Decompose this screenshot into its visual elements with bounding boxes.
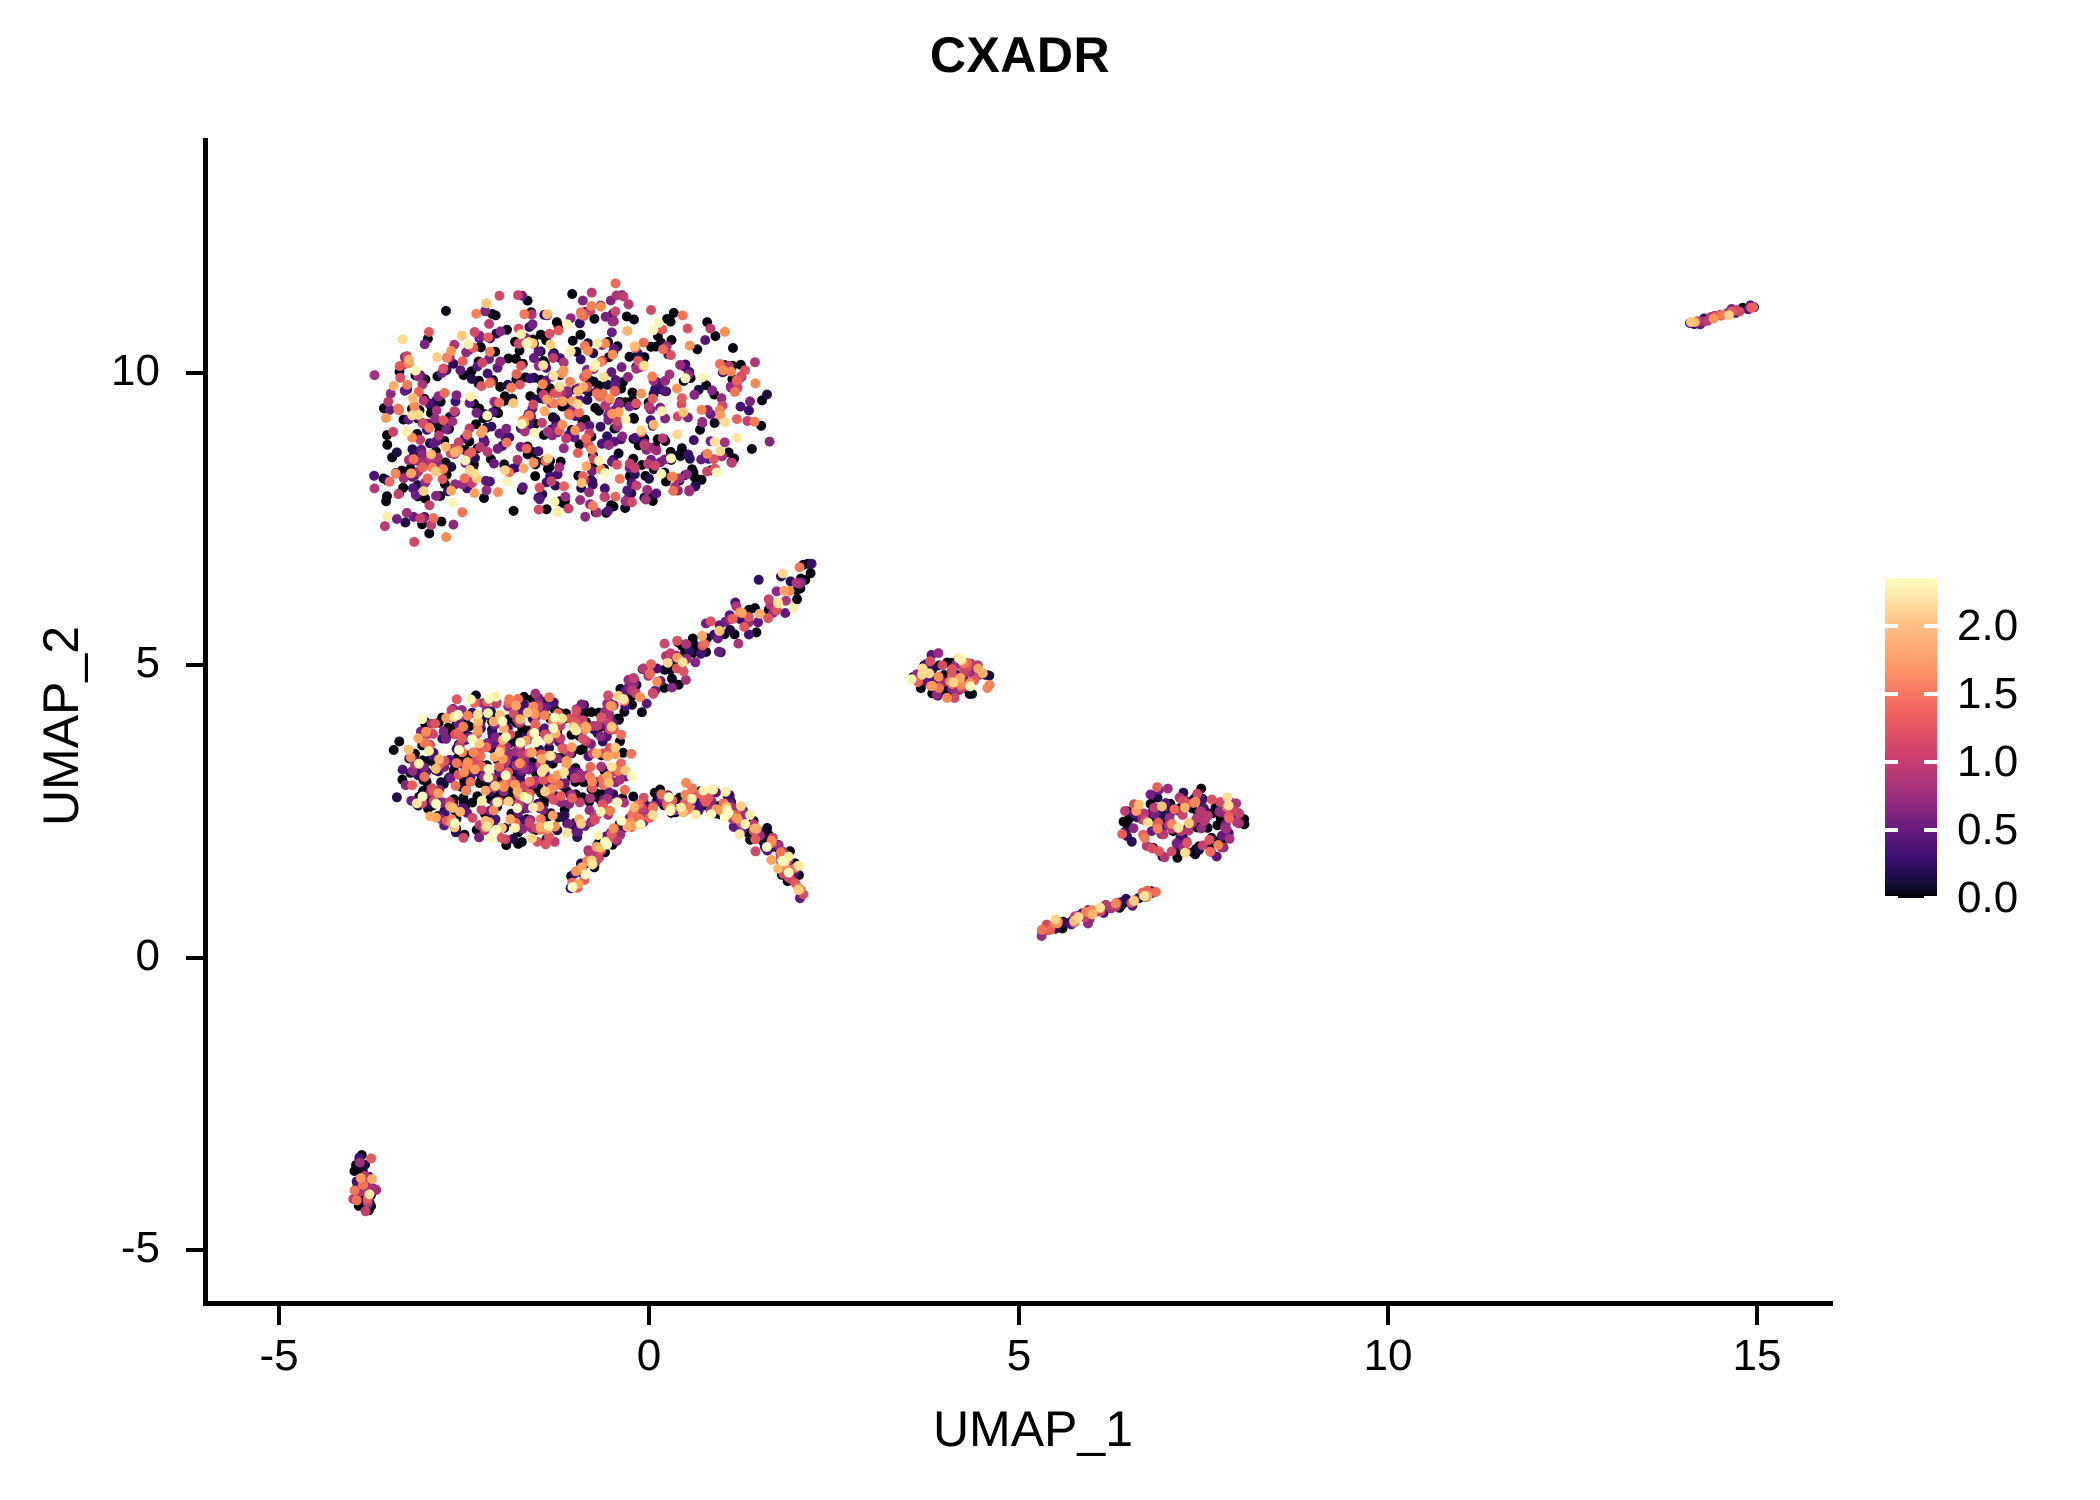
colorbar-tick-mark <box>1885 624 1898 628</box>
scatter-point <box>414 410 424 420</box>
figure-root: CXADR 1050-5 -5051015 UMAP_1 UMAP_2 2.01… <box>0 0 2100 1500</box>
scatter-point <box>495 291 505 301</box>
scatter-point <box>493 444 503 454</box>
scatter-point <box>431 799 441 809</box>
scatter-point <box>1184 818 1194 828</box>
scatter-point <box>478 425 488 435</box>
scatter-point <box>736 402 746 412</box>
scatter-point <box>466 392 476 402</box>
scatter-point <box>1037 925 1047 935</box>
scatter-point <box>720 327 730 337</box>
scatter-point <box>689 390 699 400</box>
scatter-point <box>419 772 429 782</box>
scatter-point <box>573 448 583 458</box>
scatter-point <box>448 520 458 530</box>
scatter-point <box>470 764 480 774</box>
scatter-point <box>607 722 617 732</box>
colorbar-tick-label: 0.0 <box>1957 876 2077 920</box>
scatter-point <box>620 785 630 795</box>
x-tick-mark <box>1386 1306 1390 1325</box>
scatter-point <box>550 713 560 723</box>
scatter-point <box>754 575 764 585</box>
scatter-point <box>750 417 760 427</box>
scatter-point <box>513 455 523 465</box>
scatter-point <box>567 793 577 803</box>
scatter-point <box>584 487 594 497</box>
scatter-point <box>452 758 462 768</box>
scatter-point <box>567 289 577 299</box>
scatter-point <box>494 398 504 408</box>
scatter-point <box>656 469 666 479</box>
scatter-point <box>580 870 590 880</box>
scatter-point <box>1225 834 1235 844</box>
scatter-point <box>599 492 609 502</box>
scatter-point <box>676 803 686 813</box>
scatter-point <box>629 802 639 812</box>
scatter-point <box>476 805 486 815</box>
scatter-point <box>446 346 456 356</box>
scatter-point <box>562 828 572 838</box>
scatter-point <box>395 373 405 383</box>
scatter-point <box>740 819 750 829</box>
scatter-point <box>525 777 535 787</box>
colorbar-tick-mark <box>1924 828 1937 832</box>
scatter-point <box>1686 317 1696 327</box>
scatter-point <box>1051 914 1061 924</box>
colorbar-legend: 2.01.51.00.50.0 <box>1885 578 2085 908</box>
scatter-point <box>681 675 691 685</box>
scatter-point <box>496 326 506 336</box>
scatter-point <box>578 734 588 744</box>
scatter-point <box>370 370 380 380</box>
scatter-point <box>762 390 772 400</box>
scatter-point <box>543 734 553 744</box>
scatter-point <box>484 694 494 704</box>
scatter-point <box>766 855 776 865</box>
scatter-point <box>522 338 532 348</box>
scatter-point <box>596 807 606 817</box>
scatter-point <box>486 833 496 843</box>
scatter-point <box>537 754 547 764</box>
scatter-point <box>739 622 749 632</box>
scatter-point <box>596 302 606 312</box>
scatter-point <box>753 617 763 627</box>
scatter-point <box>680 373 690 383</box>
scatter-point <box>927 681 937 691</box>
scatter-point <box>636 389 646 399</box>
scatter-point <box>557 420 567 430</box>
scatter-point <box>707 385 717 395</box>
scatter-point <box>1139 891 1149 901</box>
scatter-point <box>586 301 596 311</box>
scatter-point <box>685 341 695 351</box>
scatter-point <box>438 364 448 374</box>
scatter-point <box>389 381 399 391</box>
scatter-point <box>623 372 633 382</box>
scatter-point <box>714 647 724 657</box>
x-tick-label: 15 <box>1687 1334 1827 1378</box>
scatter-point <box>501 424 511 434</box>
scatter-point <box>546 339 556 349</box>
scatter-point <box>426 449 436 459</box>
scatter-point <box>367 1174 377 1184</box>
scatter-point <box>409 454 419 464</box>
scatter-point <box>648 689 658 699</box>
scatter-point <box>451 781 461 791</box>
scatter-point <box>590 359 600 369</box>
scatter-point <box>548 353 558 363</box>
scatter-point <box>561 434 571 444</box>
x-tick-label: 5 <box>949 1334 1089 1378</box>
scatter-point <box>433 788 443 798</box>
colorbar-tick-mark <box>1885 896 1898 900</box>
scatter-point <box>672 384 682 394</box>
scatter-point <box>657 406 667 416</box>
scatter-point <box>751 846 761 856</box>
scatter-point <box>602 840 612 850</box>
scatter-point <box>564 410 574 420</box>
scatter-point <box>481 298 491 308</box>
scatter-point <box>562 319 572 329</box>
scatter-point <box>607 762 617 772</box>
scatter-point <box>1120 806 1130 816</box>
scatter-point <box>424 327 434 337</box>
scatter-point <box>1117 829 1127 839</box>
scatter-point <box>423 473 433 483</box>
scatter-point <box>740 365 750 375</box>
scatter-point <box>736 801 746 811</box>
scatter-point <box>417 714 427 724</box>
scatter-point <box>698 372 708 382</box>
scatter-point <box>806 568 816 578</box>
scatter-point <box>540 787 550 797</box>
scatter-point <box>611 278 621 288</box>
scatter-point <box>784 868 794 878</box>
scatter-point <box>955 654 965 664</box>
scatter-point <box>621 414 631 424</box>
scatter-point <box>402 380 412 390</box>
scatter-point <box>548 811 558 821</box>
scatter-point <box>542 309 552 319</box>
scatter-point <box>518 482 528 492</box>
scatter-point <box>533 446 543 456</box>
scatter-point <box>587 860 597 870</box>
scatter-point <box>529 458 539 468</box>
scatter-point <box>596 712 606 722</box>
scatter-point <box>554 325 564 335</box>
scatter-point <box>383 397 393 407</box>
scatter-point <box>636 820 646 830</box>
scatter-point <box>424 528 434 538</box>
scatter-point <box>409 537 419 547</box>
scatter-point <box>452 390 462 400</box>
scatter-point <box>732 433 742 443</box>
scatter-point <box>356 1173 366 1183</box>
scatter-point <box>402 508 412 518</box>
scatter-point <box>565 377 575 387</box>
scatter-point <box>404 355 414 365</box>
scatter-point <box>519 309 529 319</box>
scatter-point <box>492 797 502 807</box>
scatter-point <box>414 759 424 769</box>
scatter-point <box>527 833 537 843</box>
scatter-point <box>599 372 609 382</box>
scatter-point <box>447 417 457 427</box>
scatter-point <box>608 350 618 360</box>
scatter-point <box>630 341 640 351</box>
scatter-point <box>570 425 580 435</box>
scatter-point <box>1153 824 1163 834</box>
scatter-point <box>553 507 563 517</box>
scatter-point <box>745 396 755 406</box>
scatter-point <box>602 751 612 761</box>
scatter-point <box>559 481 569 491</box>
scatter-point <box>581 434 591 444</box>
scatter-point <box>394 405 404 415</box>
scatter-point <box>452 694 462 704</box>
scatter-point <box>530 471 540 481</box>
scatter-point <box>1747 303 1757 313</box>
scatter-point <box>1129 823 1139 833</box>
scatter-point <box>765 437 775 447</box>
scatter-point <box>636 425 646 435</box>
scatter-point <box>592 338 602 348</box>
scatter-point <box>510 823 520 833</box>
scatter-point <box>398 334 408 344</box>
scatter-point <box>466 777 476 787</box>
scatter-point <box>425 811 435 821</box>
scatter-point <box>934 672 944 682</box>
scatter-point <box>684 485 694 495</box>
scatter-point <box>537 767 547 777</box>
scatter-point <box>468 747 478 757</box>
scatter-point <box>639 440 649 450</box>
scatter-point <box>627 497 637 507</box>
scatter-point <box>483 708 493 718</box>
scatter-point <box>675 360 685 370</box>
scatter-point <box>622 326 632 336</box>
scatter-point <box>1204 835 1214 845</box>
scatter-point <box>1157 802 1167 812</box>
scatter-point <box>1073 912 1083 922</box>
x-tick-mark <box>277 1306 281 1325</box>
scatter-point <box>609 823 619 833</box>
scatter-point <box>352 1195 362 1205</box>
scatter-point <box>466 447 476 457</box>
scatter-point <box>461 786 471 796</box>
scatter-point <box>907 674 917 684</box>
scatter-point <box>794 885 804 895</box>
scatter-point <box>728 343 738 353</box>
scatter-point <box>495 357 505 367</box>
scatter-point <box>538 360 548 370</box>
scatter-point <box>603 506 613 516</box>
scatter-point <box>792 594 802 604</box>
scatter-point <box>490 781 500 791</box>
colorbar-tick-label: 1.0 <box>1957 740 2077 784</box>
scatter-point <box>566 346 576 356</box>
scatter-point <box>619 694 629 704</box>
scatter-point <box>467 734 477 744</box>
scatter-point <box>696 649 706 659</box>
scatter-point <box>361 1206 371 1216</box>
scatter-point <box>515 380 525 390</box>
scatter-point <box>610 743 620 753</box>
y-tick-mark <box>186 371 203 375</box>
scatter-point <box>570 773 580 783</box>
scatter-point <box>658 344 668 354</box>
scatter-point <box>432 352 442 362</box>
scatter-point <box>366 1153 376 1163</box>
scatter-point <box>1724 310 1734 320</box>
scatter-point <box>718 365 728 375</box>
scatter-point <box>450 447 460 457</box>
scatter-point <box>558 396 568 406</box>
scatter-point <box>1205 847 1215 857</box>
scatter-point <box>424 746 434 756</box>
scatter-point <box>411 366 421 376</box>
scatter-point <box>382 440 392 450</box>
scatter-point <box>429 513 439 523</box>
scatter-point <box>648 325 658 335</box>
scatter-point <box>639 361 649 371</box>
scatter-point <box>616 816 626 826</box>
scatter-point <box>612 797 622 807</box>
scatter-point <box>732 375 742 385</box>
scatter-point <box>543 427 553 437</box>
colorbar-tick-label: 0.5 <box>1957 808 2077 852</box>
scatter-point <box>573 399 583 409</box>
colorbar-tick-label: 1.5 <box>1957 672 2077 716</box>
scatter-point <box>585 762 595 772</box>
scatter-point <box>404 745 414 755</box>
scatter-point <box>415 513 425 523</box>
scatter-point <box>617 431 627 441</box>
scatter-point <box>715 446 725 456</box>
scatter-point <box>773 598 783 608</box>
scatter-point <box>457 331 467 341</box>
scatter-point <box>622 486 632 496</box>
scatter-point <box>689 435 699 445</box>
scatter-point <box>788 603 798 613</box>
scatter-point <box>382 491 392 501</box>
scatter-point <box>466 695 476 705</box>
x-axis-label: UMAP_1 <box>703 1400 1363 1458</box>
scatter-point <box>370 483 380 493</box>
scatter-point <box>681 639 691 649</box>
colorbar-tick-mark <box>1885 692 1898 696</box>
scatter-point <box>463 711 473 721</box>
scatter-point <box>460 456 470 466</box>
scatter-point <box>421 727 431 737</box>
scatter-point <box>485 347 495 357</box>
scatter-point <box>1182 838 1192 848</box>
scatter-point <box>727 458 737 468</box>
scatter-point <box>683 450 693 460</box>
scatter-point <box>639 338 649 348</box>
scatter-point <box>549 371 559 381</box>
scatter-point <box>575 495 585 505</box>
scatter-point <box>434 431 444 441</box>
scatter-point <box>764 594 774 604</box>
scatter-point <box>1173 823 1183 833</box>
scatter-point <box>594 456 604 466</box>
scatter-point <box>515 758 525 768</box>
scatter-point <box>1709 314 1719 324</box>
scatter-point <box>516 361 526 371</box>
scatter-point <box>455 365 465 375</box>
scatter-point <box>483 447 493 457</box>
y-axis-label: UMAP_2 <box>32 396 90 1056</box>
scatter-point <box>581 461 591 471</box>
scatter-point <box>563 504 573 514</box>
scatter-point <box>681 778 691 788</box>
scatter-point <box>473 710 483 720</box>
scatter-point <box>546 751 556 761</box>
scatter-point <box>538 379 548 389</box>
scatter-point <box>596 731 606 741</box>
scatter-point <box>527 747 537 757</box>
scatter-point <box>497 833 507 843</box>
scatter-point <box>614 399 624 409</box>
scatter-point <box>493 487 503 497</box>
scatter-point <box>630 463 640 473</box>
scatter-point <box>555 382 565 392</box>
scatter-point <box>398 765 408 775</box>
scatter-point <box>450 818 460 828</box>
scatter-point <box>454 745 464 755</box>
scatter-point <box>485 378 495 388</box>
x-tick-mark <box>647 1306 651 1325</box>
scatter-point <box>413 733 423 743</box>
scatter-point <box>487 422 497 432</box>
scatter-point <box>525 373 535 383</box>
scatter-point <box>431 764 441 774</box>
scatter-point <box>392 792 402 802</box>
scatter-point <box>506 383 516 393</box>
scatter-point <box>389 745 399 755</box>
scatter-point <box>459 767 469 777</box>
scatter-point <box>1140 833 1150 843</box>
scatter-point <box>530 728 540 738</box>
scatter-point <box>615 474 625 484</box>
scatter-point <box>627 771 637 781</box>
scatter-point <box>567 742 577 752</box>
scatter-point <box>604 440 614 450</box>
scatter-point <box>481 476 491 486</box>
scatter-point <box>470 469 480 479</box>
scatter-point <box>385 477 395 487</box>
x-tick-label: 0 <box>579 1334 719 1378</box>
scatter-point <box>616 730 626 740</box>
scatter-point <box>649 420 659 430</box>
scatter-point <box>690 657 700 667</box>
scatter-point <box>516 329 526 339</box>
scatter-point <box>1213 840 1223 850</box>
scatter-point <box>548 723 558 733</box>
scatter-point <box>441 442 451 452</box>
scatter-point <box>407 780 417 790</box>
scatter-point <box>730 387 740 397</box>
scatter-point <box>596 762 606 772</box>
scatter-point <box>1224 814 1234 824</box>
scatter-point <box>431 466 441 476</box>
scatter-point <box>424 423 434 433</box>
scatter-point <box>529 428 539 438</box>
scatter-point <box>473 726 483 736</box>
scatter-point <box>660 639 670 649</box>
scatter-point <box>481 786 491 796</box>
